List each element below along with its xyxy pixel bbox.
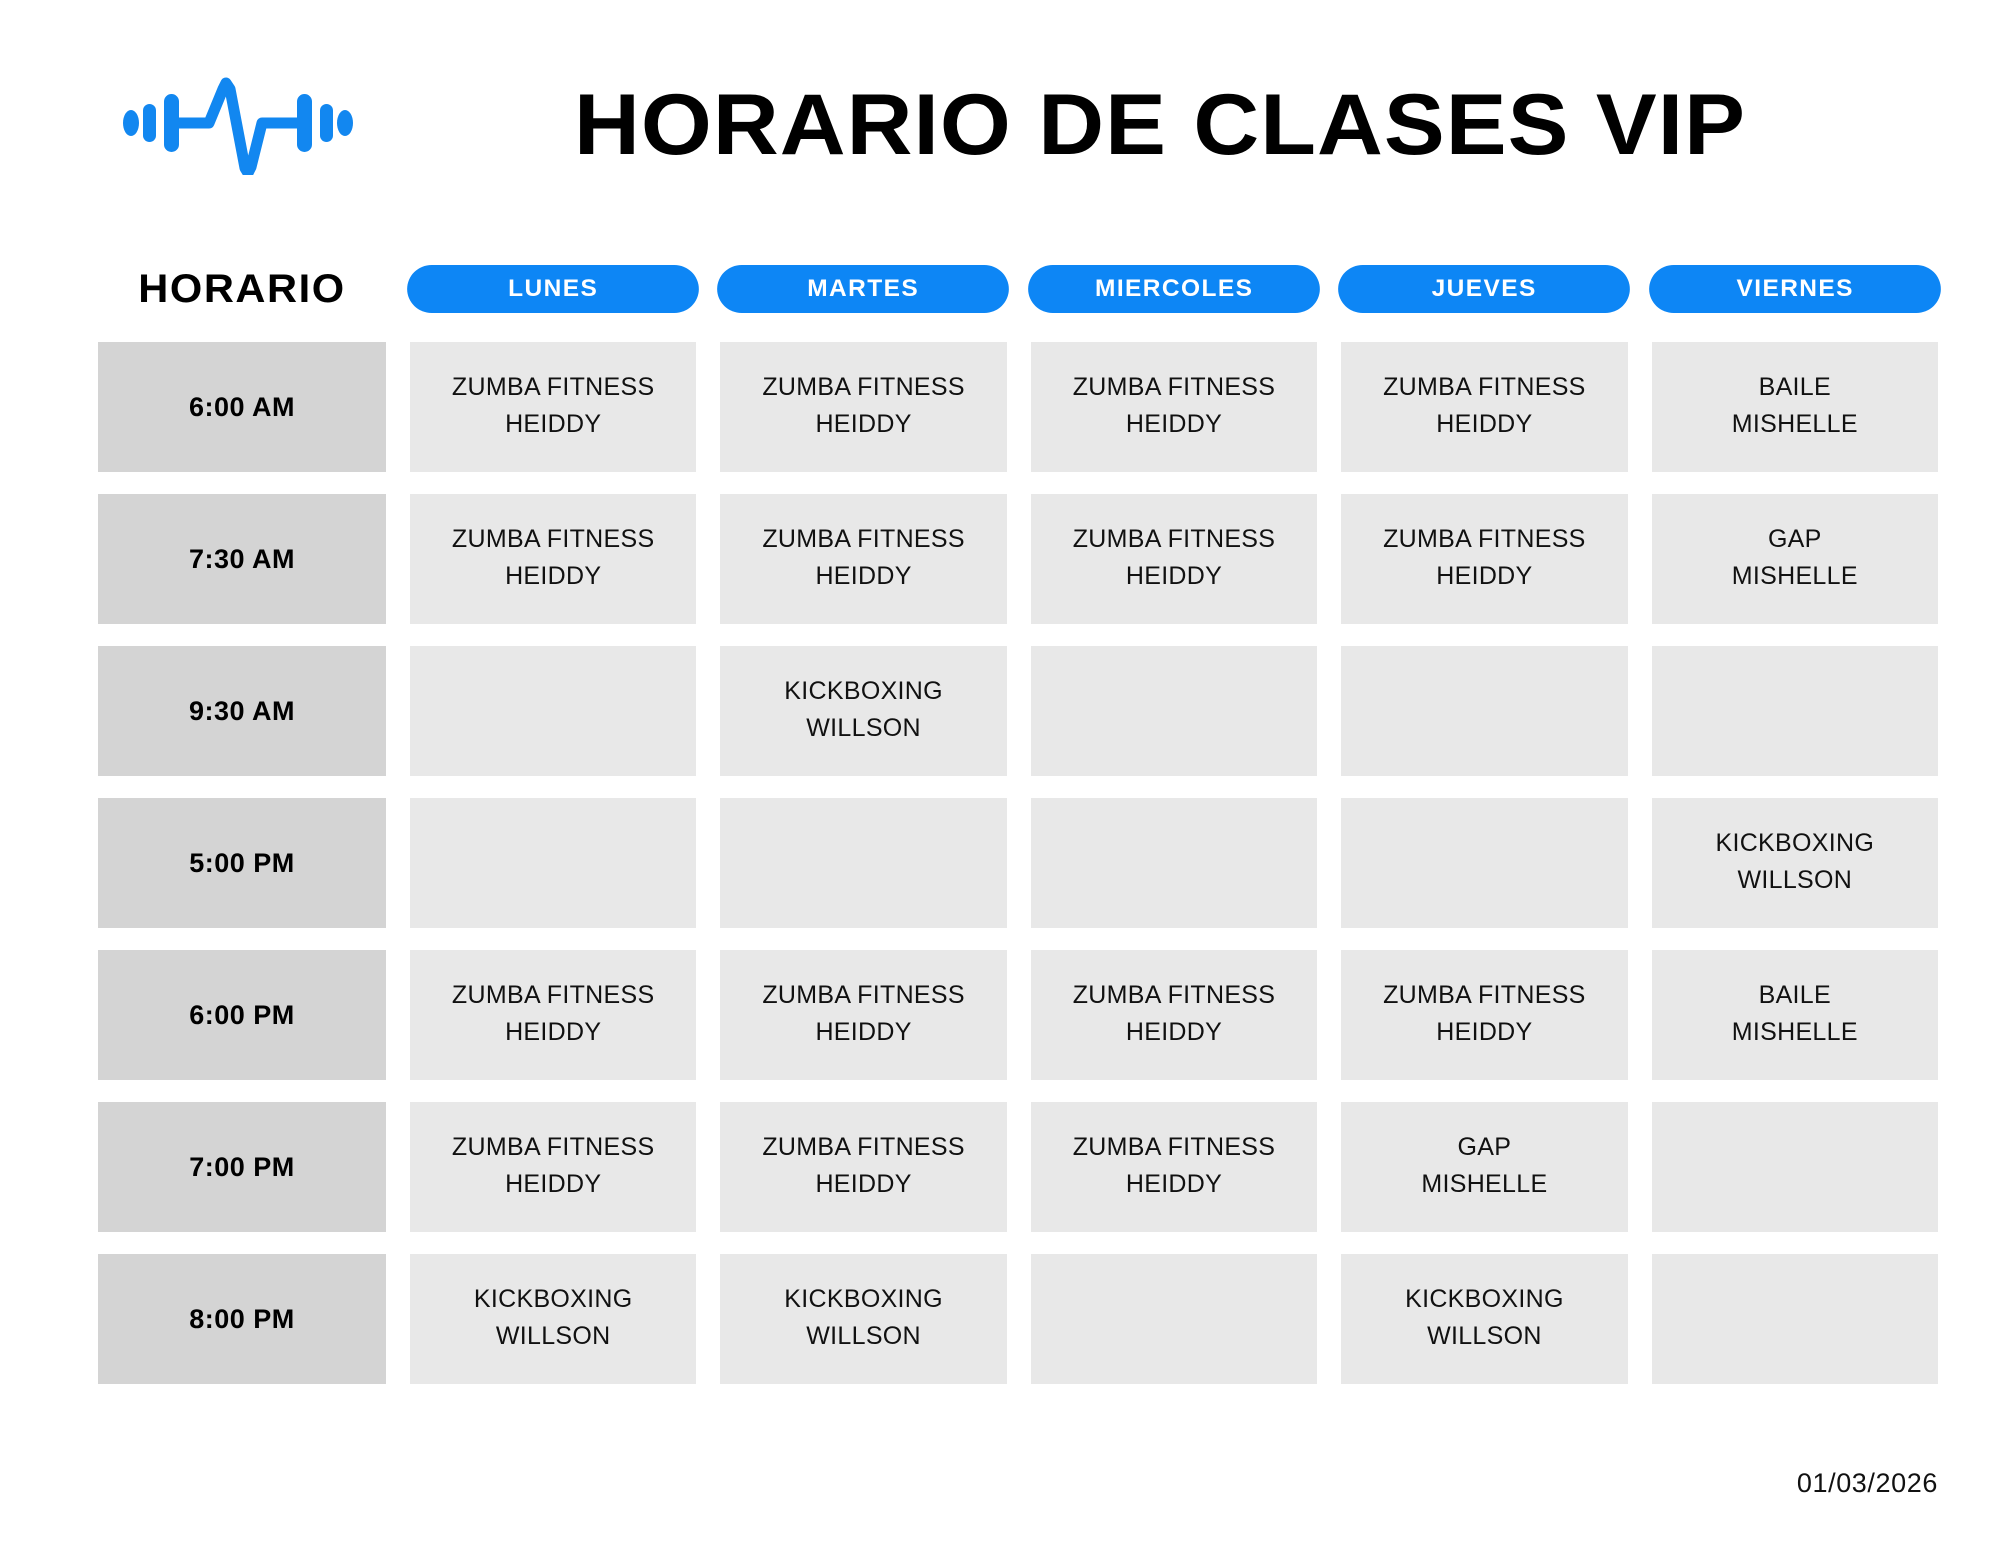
class-cell[interactable] <box>1031 1254 1317 1384</box>
class-cell[interactable] <box>1652 646 1938 776</box>
class-name: ZUMBA FITNESS <box>452 1131 655 1164</box>
class-cell[interactable]: BAILE MISHELLE <box>1652 950 1938 1080</box>
class-cell[interactable] <box>1652 1102 1938 1232</box>
dumbbell-heartbeat-icon <box>118 68 358 178</box>
class-cell[interactable]: ZUMBA FITNESS HEIDDY <box>720 342 1006 472</box>
class-name: GAP <box>1768 523 1822 556</box>
class-cell[interactable]: ZUMBA FITNESS HEIDDY <box>1031 950 1317 1080</box>
class-name: ZUMBA FITNESS <box>1073 979 1276 1012</box>
class-teacher: WILLSON <box>806 712 921 745</box>
class-teacher: WILLSON <box>496 1320 611 1353</box>
class-teacher: HEIDDY <box>1436 408 1532 441</box>
day-header-martes[interactable]: MARTES <box>718 265 1010 313</box>
class-teacher: HEIDDY <box>815 408 911 441</box>
class-teacher: HEIDDY <box>1126 408 1222 441</box>
time-column-header: HORARIO <box>92 258 392 320</box>
class-teacher: HEIDDY <box>505 408 601 441</box>
class-teacher: HEIDDY <box>1126 1016 1222 1049</box>
class-cell[interactable]: ZUMBA FITNESS HEIDDY <box>1031 1102 1317 1232</box>
class-teacher: HEIDDY <box>1126 560 1222 593</box>
class-teacher: HEIDDY <box>505 1016 601 1049</box>
day-header-jueves[interactable]: JUEVES <box>1338 265 1630 313</box>
class-cell[interactable] <box>1652 1254 1938 1384</box>
class-cell[interactable]: ZUMBA FITNESS HEIDDY <box>410 950 696 1080</box>
class-cell[interactable]: KICKBOXING WILLSON <box>720 646 1006 776</box>
class-cell[interactable]: ZUMBA FITNESS HEIDDY <box>410 494 696 624</box>
time-label: 9:30 AM <box>98 646 386 776</box>
class-cell[interactable] <box>1341 798 1627 928</box>
class-cell[interactable]: KICKBOXING WILLSON <box>720 1254 1006 1384</box>
class-cell[interactable]: ZUMBA FITNESS HEIDDY <box>1031 342 1317 472</box>
class-name: ZUMBA FITNESS <box>762 371 965 404</box>
class-teacher: HEIDDY <box>815 1168 911 1201</box>
class-cell[interactable] <box>1031 798 1317 928</box>
time-label: 5:00 PM <box>98 798 386 928</box>
class-name: ZUMBA FITNESS <box>1073 1131 1276 1164</box>
class-name: ZUMBA FITNESS <box>1383 523 1586 556</box>
time-label: 6:00 PM <box>98 950 386 1080</box>
time-label: 7:00 PM <box>98 1102 386 1232</box>
time-label: 8:00 PM <box>98 1254 386 1384</box>
day-header-viernes[interactable]: VIERNES <box>1649 265 1941 313</box>
class-name: KICKBOXING <box>1715 827 1874 860</box>
class-name: ZUMBA FITNESS <box>1073 523 1276 556</box>
page-title: HORARIO DE CLASES VIP <box>460 60 1859 190</box>
class-teacher: WILLSON <box>1737 864 1852 897</box>
class-name: BAILE <box>1759 979 1831 1012</box>
day-header-miercoles[interactable]: MIERCOLES <box>1028 265 1320 313</box>
class-teacher: HEIDDY <box>505 560 601 593</box>
schedule-date: 01/03/2026 <box>1797 1468 1938 1499</box>
class-name: ZUMBA FITNESS <box>452 523 655 556</box>
class-teacher: MISHELLE <box>1421 1168 1547 1201</box>
class-cell[interactable]: KICKBOXING WILLSON <box>1652 798 1938 928</box>
class-name: ZUMBA FITNESS <box>762 979 965 1012</box>
time-label: 7:30 AM <box>98 494 386 624</box>
time-label: 6:00 AM <box>98 342 386 472</box>
class-teacher: MISHELLE <box>1732 560 1858 593</box>
class-name: ZUMBA FITNESS <box>1383 371 1586 404</box>
class-cell[interactable]: GAP MISHELLE <box>1652 494 1938 624</box>
class-name: GAP <box>1458 1131 1512 1164</box>
class-teacher: MISHELLE <box>1732 1016 1858 1049</box>
class-cell[interactable]: ZUMBA FITNESS HEIDDY <box>1031 494 1317 624</box>
class-teacher: WILLSON <box>1427 1320 1542 1353</box>
class-teacher: WILLSON <box>806 1320 921 1353</box>
class-name: ZUMBA FITNESS <box>1073 371 1276 404</box>
class-cell[interactable]: ZUMBA FITNESS HEIDDY <box>410 1102 696 1232</box>
class-cell[interactable] <box>410 646 696 776</box>
class-cell[interactable] <box>720 798 1006 928</box>
class-name: ZUMBA FITNESS <box>1383 979 1586 1012</box>
class-cell[interactable]: KICKBOXING WILLSON <box>410 1254 696 1384</box>
class-cell[interactable]: ZUMBA FITNESS HEIDDY <box>720 1102 1006 1232</box>
class-teacher: HEIDDY <box>815 1016 911 1049</box>
class-teacher: MISHELLE <box>1732 408 1858 441</box>
class-cell[interactable]: KICKBOXING WILLSON <box>1341 1254 1627 1384</box>
class-cell[interactable]: ZUMBA FITNESS HEIDDY <box>720 950 1006 1080</box>
class-teacher: HEIDDY <box>1436 560 1532 593</box>
class-cell[interactable] <box>410 798 696 928</box>
class-cell[interactable]: ZUMBA FITNESS HEIDDY <box>1341 950 1627 1080</box>
schedule-page: HORARIO DE CLASES VIP HORARIO LUNES MART… <box>0 0 2000 1545</box>
class-cell[interactable] <box>1341 646 1627 776</box>
class-name: KICKBOXING <box>1405 1283 1564 1316</box>
class-teacher: HEIDDY <box>1436 1016 1532 1049</box>
class-name: ZUMBA FITNESS <box>452 979 655 1012</box>
class-cell[interactable]: GAP MISHELLE <box>1341 1102 1627 1232</box>
class-cell[interactable] <box>1031 646 1317 776</box>
class-teacher: HEIDDY <box>505 1168 601 1201</box>
schedule-grid: HORARIO LUNES MARTES MIERCOLES JUEVES VI… <box>98 258 1938 1384</box>
class-name: KICKBOXING <box>784 675 943 708</box>
class-teacher: HEIDDY <box>1126 1168 1222 1201</box>
class-cell[interactable]: BAILE MISHELLE <box>1652 342 1938 472</box>
class-name: ZUMBA FITNESS <box>762 523 965 556</box>
class-cell[interactable]: ZUMBA FITNESS HEIDDY <box>1341 342 1627 472</box>
page-header: HORARIO DE CLASES VIP <box>0 60 2000 190</box>
class-name: KICKBOXING <box>474 1283 633 1316</box>
class-name: KICKBOXING <box>784 1283 943 1316</box>
class-name: ZUMBA FITNESS <box>452 371 655 404</box>
class-teacher: HEIDDY <box>815 560 911 593</box>
day-header-lunes[interactable]: LUNES <box>407 265 699 313</box>
class-cell[interactable]: ZUMBA FITNESS HEIDDY <box>1341 494 1627 624</box>
class-cell[interactable]: ZUMBA FITNESS HEIDDY <box>720 494 1006 624</box>
class-cell[interactable]: ZUMBA FITNESS HEIDDY <box>410 342 696 472</box>
class-name: BAILE <box>1759 371 1831 404</box>
class-name: ZUMBA FITNESS <box>762 1131 965 1164</box>
